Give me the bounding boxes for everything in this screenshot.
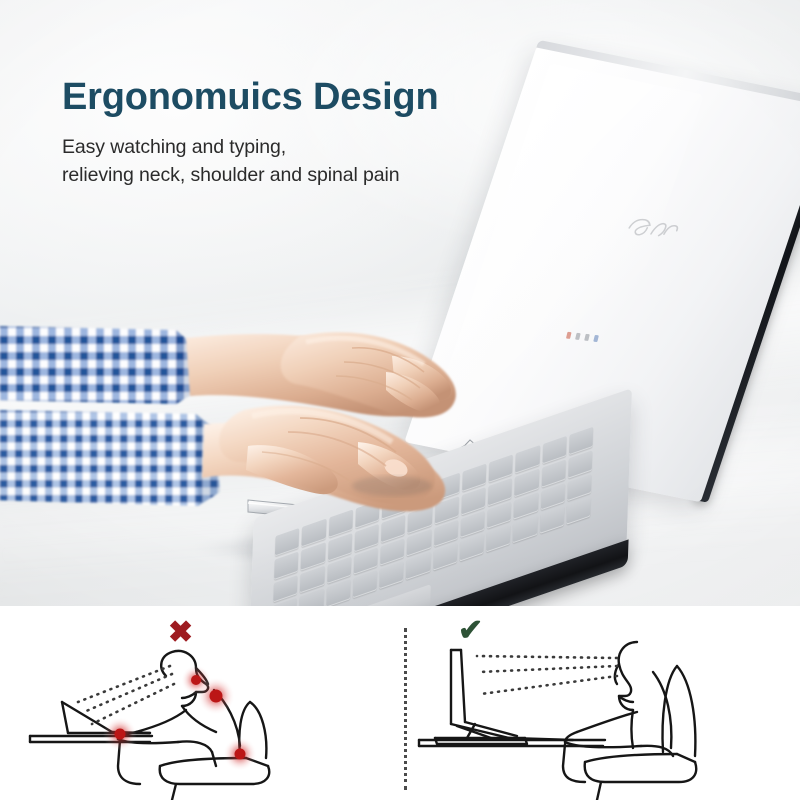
hero-subtitle-line-2: relieving neck, shoulder and spinal pain: [62, 162, 532, 190]
posture-comparison-section: ✖: [0, 606, 800, 800]
good-posture-panel: ✔: [405, 606, 800, 800]
bad-posture-panel: ✖: [0, 606, 405, 800]
page-title: Ergonomuics Design: [62, 78, 532, 116]
hand-shadow: [352, 476, 432, 496]
hero-text-block: Ergonomuics Design Easy watching and typ…: [62, 78, 532, 189]
sight-lines-downward: [78, 666, 174, 724]
pain-point-wrist: [103, 717, 137, 751]
hand-back: [281, 332, 456, 417]
pain-point-lower-back: [223, 737, 257, 771]
pain-point-shoulder: [197, 677, 235, 715]
hero-photo-section: Ergonomuics Design Easy watching and typ…: [0, 0, 800, 606]
product-marketing-image: Ergonomuics Design Easy watching and typ…: [0, 0, 800, 800]
hero-subtitle: Easy watching and typing, relieving neck…: [62, 134, 532, 189]
hero-subtitle-line-1: Easy watching and typing,: [62, 136, 286, 158]
sleeve-upper: [0, 326, 196, 404]
sleeve-lower: [0, 410, 220, 506]
bad-posture-illustration: [0, 606, 405, 800]
sight-lines-level: [477, 656, 617, 694]
good-posture-illustration: [405, 606, 800, 800]
